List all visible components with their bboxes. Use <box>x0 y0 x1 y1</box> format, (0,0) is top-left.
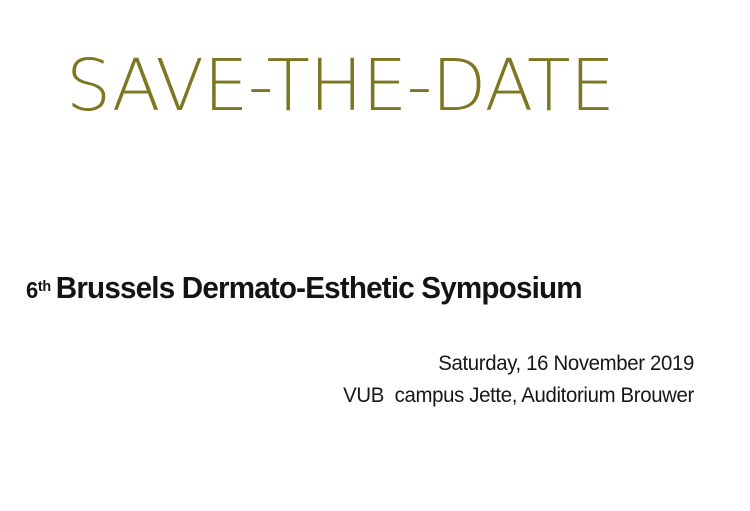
event-headline: 6thBrussels Dermato-Esthetic Symposium <box>26 272 695 305</box>
save-the-date-slide: SAVE-THE-DATE 6thBrussels Dermato-Esthet… <box>0 0 750 511</box>
event-name: Brussels Dermato-Esthetic Symposium <box>56 270 582 305</box>
hero-title: SAVE-THE-DATE <box>66 50 686 121</box>
edition-ordinal-number: 6 <box>26 277 38 303</box>
event-date: Saturday, 16 November 2019 <box>73 348 694 380</box>
event-venue: VUB campus Jette, Auditorium Brouwer <box>73 380 694 412</box>
edition-ordinal-suffix: th <box>38 278 51 295</box>
event-details: Saturday, 16 November 2019 VUB campus Je… <box>73 348 694 412</box>
